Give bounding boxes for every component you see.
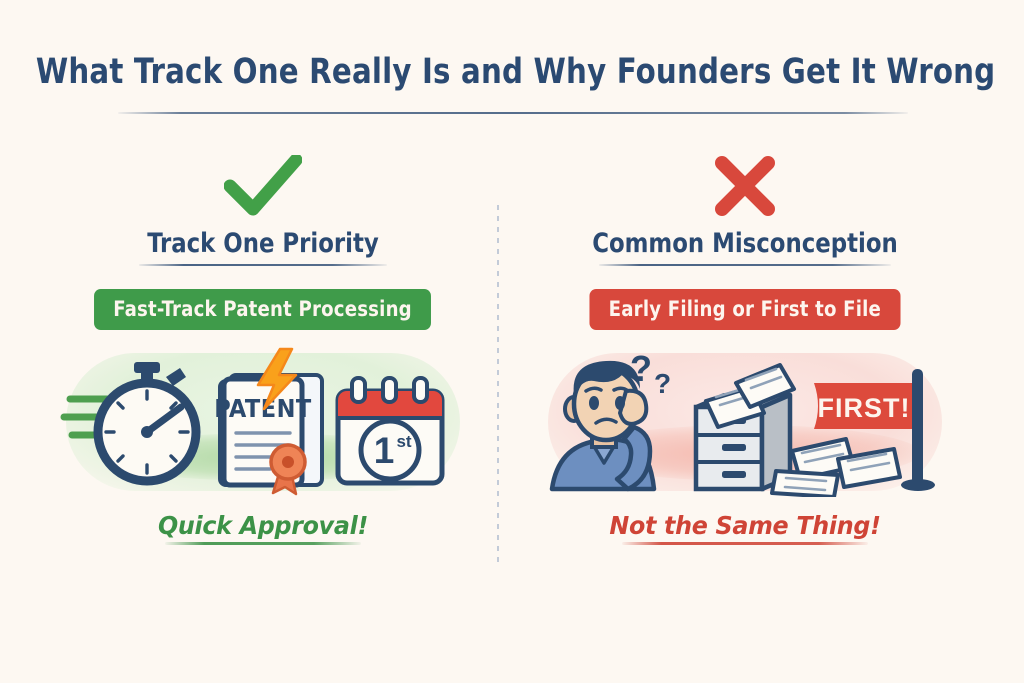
svg-text:1: 1 [374, 430, 395, 471]
cross-mark-wrapper [530, 150, 960, 222]
patent-document-icon: PATENT [214, 375, 322, 485]
caption-underline-right [622, 542, 868, 545]
page-title: What Track One Really Is and Why Founder… [36, 52, 988, 92]
infographic-page: What Track One Really Is and Why Founder… [0, 0, 1024, 683]
confused-person-icon [552, 361, 654, 489]
column-heading-underline-right [599, 264, 891, 266]
column-heading-underline-left [139, 264, 387, 266]
title-block: What Track One Really Is and Why Founder… [0, 52, 1024, 92]
check-icon [224, 155, 302, 217]
fast-track-patent-illustration: PATENT [48, 347, 478, 497]
calendar-first-icon: 1 st [338, 378, 442, 483]
svg-text:st: st [396, 432, 411, 451]
svg-text:FIRST!: FIRST! [818, 393, 911, 423]
column-heading-left: Track One Priority [61, 228, 465, 259]
column-heading-right: Common Misconception [543, 228, 947, 259]
column-common-misconception: Common Misconception Early Filing or Fir… [530, 150, 960, 545]
title-underline [118, 112, 908, 114]
fast-track-art: PATENT [48, 347, 478, 497]
badge-early-filing: Early Filing or First to File [590, 289, 901, 330]
check-mark-wrapper [48, 150, 478, 222]
badge-fast-track: Fast-Track Patent Processing [94, 289, 431, 330]
column-track-one-priority: Track One Priority Fast-Track Patent Pro… [48, 150, 478, 545]
cross-icon [712, 155, 778, 217]
column-divider [497, 205, 499, 567]
misconception-art: ? ? [530, 347, 960, 497]
caption-quick-approval: Quick Approval! [59, 511, 468, 540]
common-misconception-illustration: ? ? [530, 347, 960, 497]
svg-text:?: ? [654, 368, 671, 399]
caption-underline-left [165, 542, 361, 545]
caption-not-the-same-thing: Not the Same Thing! [541, 511, 950, 540]
stopwatch-icon [98, 362, 196, 481]
